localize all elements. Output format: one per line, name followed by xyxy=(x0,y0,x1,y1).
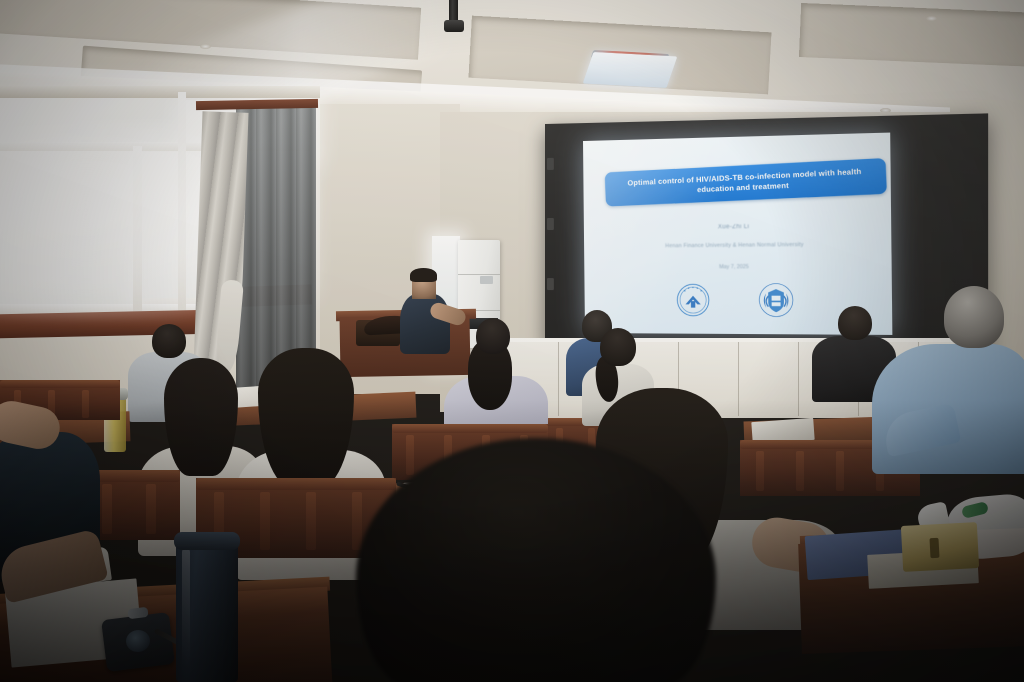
bench-slat xyxy=(146,484,156,534)
bench-rail xyxy=(392,424,548,433)
presenter-hair xyxy=(410,268,437,282)
bench-slat xyxy=(82,390,89,418)
attendee-woman-centreback-head xyxy=(600,328,636,366)
board-bracket xyxy=(547,158,554,170)
bench-rail xyxy=(0,380,120,388)
university-emblem-left-icon xyxy=(676,283,711,318)
attendee-woman-long-hair-hair xyxy=(164,358,238,476)
ceiling-downlight xyxy=(200,44,211,49)
bench-slat xyxy=(102,484,112,534)
attendee-woman-ponytail-hair xyxy=(258,348,354,488)
bench-slat xyxy=(796,451,804,491)
bench-slat xyxy=(756,451,764,491)
tumbler-highlight xyxy=(182,548,190,668)
attendee-man-light-shirt-head xyxy=(152,324,186,358)
ac-control-panel[interactable] xyxy=(480,276,493,284)
board-bracket xyxy=(547,218,554,230)
ceiling-recess-panel xyxy=(799,3,1024,67)
ceiling-downlight xyxy=(926,16,937,21)
bench-slat xyxy=(260,492,270,550)
ceiling-light-panel xyxy=(583,52,678,88)
bench-slat xyxy=(836,451,844,491)
tissue-box[interactable] xyxy=(901,522,979,572)
university-emblem-right-icon xyxy=(758,282,794,317)
slide-affiliation: Henan Finance University & Henan Normal … xyxy=(584,241,891,250)
attendee-man-black-head xyxy=(838,306,872,340)
window-frame xyxy=(0,86,320,98)
slide-date: May 7, 2025 xyxy=(584,263,891,271)
slide-author: Xue-Zhi Li xyxy=(584,222,891,232)
wainscot-seam xyxy=(558,342,559,416)
bench-slat xyxy=(352,492,362,550)
projector-mount-bracket xyxy=(444,20,464,32)
ac-seam xyxy=(458,274,500,275)
projected-slide: Optimal control of HIV/AIDS-TB co-infect… xyxy=(583,133,892,335)
bench-slat xyxy=(406,435,414,475)
attendee-woman-lavender-head xyxy=(476,318,510,354)
bench-rail xyxy=(196,478,396,490)
tissue-box-slot xyxy=(929,538,939,558)
wainscot-seam xyxy=(738,342,739,416)
lecture-hall-photo: Optimal control of HIV/AIDS-TB co-infect… xyxy=(0,0,1024,682)
wainscot-seam xyxy=(798,342,799,416)
wainscot-cap xyxy=(500,338,970,342)
tumbler-lid[interactable] xyxy=(174,532,240,550)
bench-slat xyxy=(306,492,316,550)
attendee-man-grey-hair-head xyxy=(944,286,1004,348)
board-bracket xyxy=(547,278,554,290)
slide-title: Optimal control of HIV/AIDS-TB co-infect… xyxy=(605,158,887,207)
